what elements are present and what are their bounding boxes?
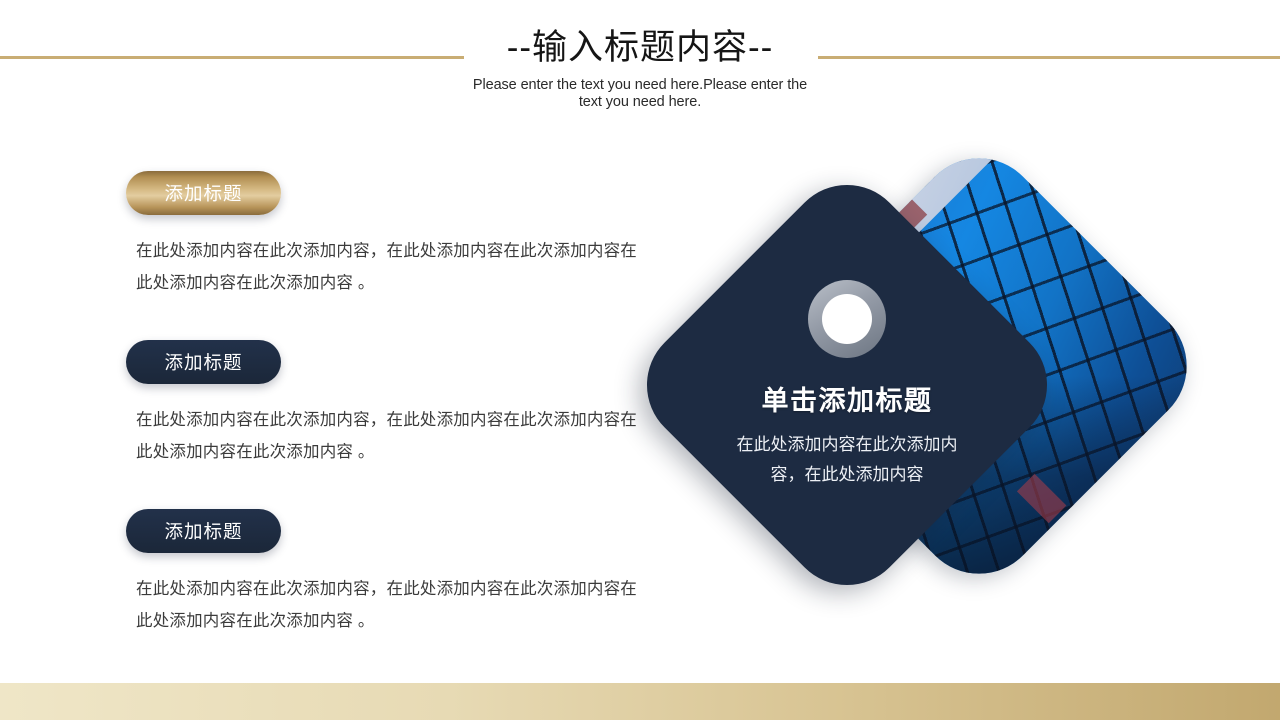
section-pill-1-label: 添加标题 xyxy=(164,180,242,206)
section-pill-2-label: 添加标题 xyxy=(164,349,242,375)
page-title: --输入标题内容-- xyxy=(340,26,940,70)
left-content-column: 添加标题 在此处添加内容在此次添加内容，在此处添加内容在此次添加内容在此处添加内… xyxy=(126,171,656,637)
content-block-1: 添加标题 在此处添加内容在此次添加内容，在此处添加内容在此次添加内容在此处添加内… xyxy=(126,171,656,299)
section-pill-3[interactable]: 添加标题 xyxy=(126,509,281,553)
section-body-3: 在此处添加内容在此次添加内容，在此处添加内容在此次添加内容在此处添加内容在此次添… xyxy=(136,573,648,637)
content-block-2: 添加标题 在此处添加内容在此次添加内容，在此处添加内容在此次添加内容在此处添加内… xyxy=(126,340,656,468)
feature-card-text: 在此处添加内容在此次添加内容，在此处添加内容 xyxy=(727,430,967,490)
header-block: --输入标题内容-- Please enter the text you nee… xyxy=(340,26,940,111)
section-pill-2[interactable]: 添加标题 xyxy=(126,340,281,384)
page-subtitle: Please enter the text you need here.Plea… xyxy=(465,77,815,111)
content-block-3: 添加标题 在此处添加内容在此次添加内容，在此处添加内容在此次添加内容在此处添加内… xyxy=(126,509,656,637)
section-pill-1[interactable]: 添加标题 xyxy=(126,171,281,215)
facade-accent-2 xyxy=(1017,474,1067,524)
section-body-2: 在此处添加内容在此次添加内容，在此处添加内容在此次添加内容在此处添加内容在此次添… xyxy=(136,404,648,468)
section-body-1: 在此处添加内容在此次添加内容，在此处添加内容在此次添加内容在此处添加内容在此次添… xyxy=(136,235,648,299)
slide-canvas: --输入标题内容-- Please enter the text you nee… xyxy=(0,0,1280,720)
diamond-graphic-group: 单击添加标题 在此处添加内容在此次添加内容，在此处添加内容 xyxy=(660,160,1200,620)
ring-icon xyxy=(808,280,886,358)
section-pill-3-label: 添加标题 xyxy=(164,518,242,544)
footer-gradient-bar xyxy=(0,683,1280,720)
feature-card-content: 单击添加标题 在此处添加内容在此次添加内容，在此处添加内容 xyxy=(697,280,997,490)
feature-card-title: 单击添加标题 xyxy=(697,384,997,418)
ring-icon-hole xyxy=(822,294,872,344)
